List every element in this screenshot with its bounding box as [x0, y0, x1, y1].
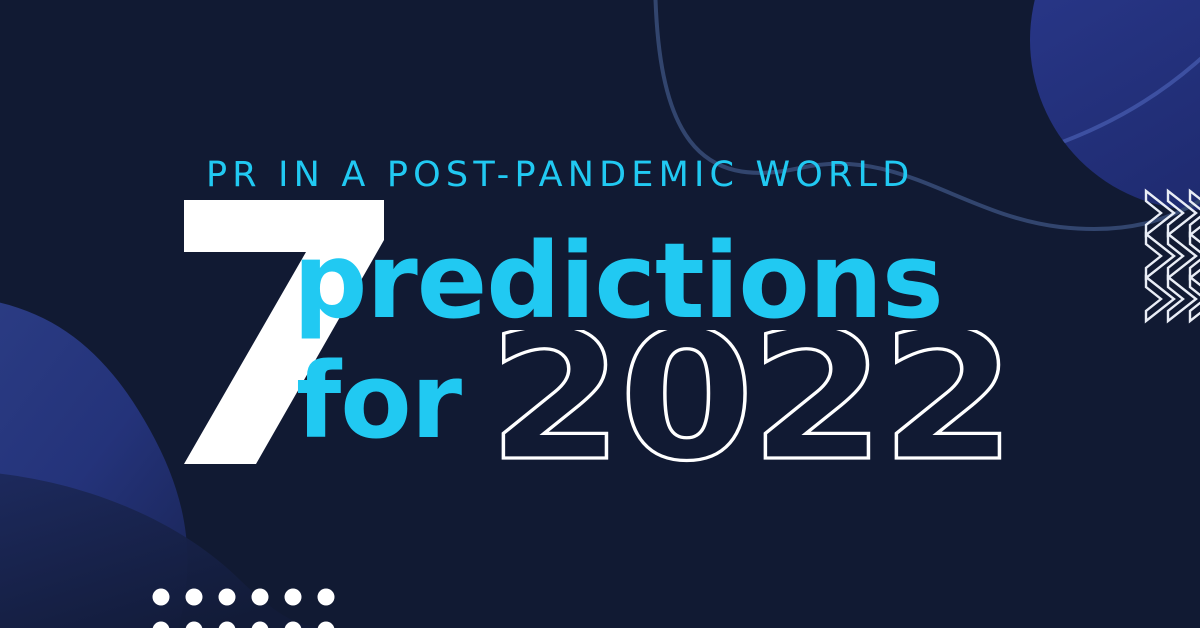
dot	[219, 589, 236, 606]
background-decoration	[0, 0, 1200, 628]
dot	[318, 589, 335, 606]
dot	[285, 589, 302, 606]
dot	[252, 589, 269, 606]
title-card-canvas: PR IN A POST-PANDEMIC WORLD predictions …	[0, 0, 1200, 628]
dot	[186, 589, 203, 606]
dot	[153, 589, 170, 606]
